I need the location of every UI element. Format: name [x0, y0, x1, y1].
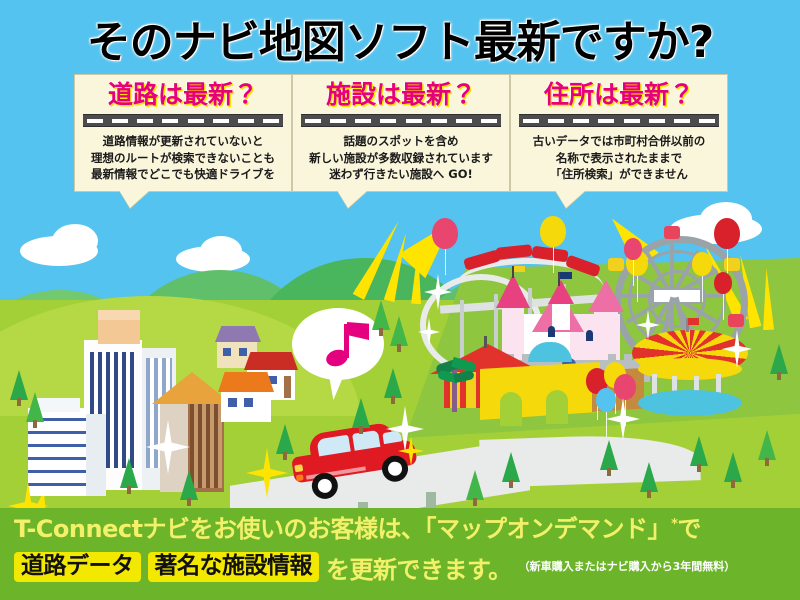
bottom-banner: T-Connectナビをお使いのお客様は、「マップオンデマンド」*で 道路データ… — [0, 508, 800, 600]
callout-title: 道路は最新？ — [81, 81, 285, 109]
callout-title: 住所は最新？ — [517, 81, 721, 109]
park-yellow-arch — [500, 392, 522, 426]
callout-body-line: 話題のスポットを含め — [299, 133, 503, 150]
balloon-icon — [692, 252, 712, 276]
banner-line-1-tail: で — [677, 515, 701, 543]
callout-title: 施設は最新？ — [299, 81, 503, 109]
callout-body-line: 迷わず行きたい施設へ GO! — [299, 166, 503, 183]
callout-tail — [555, 190, 586, 208]
banner-line-1-text: T-Connectナビをお使いのお客様は、「マップオンデマンド」 — [14, 515, 671, 543]
callout-body-line: 名称で表示されたままで — [517, 150, 721, 167]
banner-footnote: （新車購入またはナビ購入から3年間無料） — [519, 558, 736, 577]
callout-body-line: 古いデータでは市町村合併以前の — [517, 133, 721, 150]
banner-line-2-tail: を更新できます。 — [326, 550, 512, 585]
chip-road-data: 道路データ — [14, 552, 141, 582]
balloon-icon — [624, 238, 642, 260]
promo-banner-stage: そのナビ地図ソフト最新ですか? 道路は最新？ 道路情報が更新されていないと 理想… — [0, 0, 800, 600]
road-dashes-icon — [83, 114, 283, 127]
callout-body-line: 理想のルートが検索できないことも — [81, 150, 285, 167]
carousel-icon — [632, 330, 748, 416]
callout-body-line: 最新情報でどこでも快適ドライブを — [81, 166, 285, 183]
callout-tail — [119, 190, 150, 208]
callout-card-roads[interactable]: 道路は最新？ 道路情報が更新されていないと 理想のルートが検索できないことも 最… — [74, 74, 292, 192]
banner-line-2: 道路データ 著名な施設情報 を更新できます。 （新車購入またはナビ購入から3年間… — [14, 550, 786, 585]
park-yellow-building — [480, 362, 600, 420]
chip-facility-info: 著名な施設情報 — [148, 552, 320, 582]
cloud-icon — [52, 224, 98, 258]
banner-line-1: T-Connectナビをお使いのお客様は、「マップオンデマンド」*で — [14, 516, 786, 544]
callout-body-line: 新しい施設が多数収録されています — [299, 150, 503, 167]
cloud-icon — [200, 236, 242, 266]
balloon-icon — [614, 374, 636, 400]
road-dashes-icon — [519, 114, 719, 127]
callout-tail — [337, 190, 368, 208]
callout-card-facilities[interactable]: 施設は最新？ 話題のスポットを含め 新しい施設が多数収録されています 迷わず行き… — [292, 74, 510, 192]
balloon-icon — [596, 388, 616, 412]
house-icon — [218, 372, 274, 424]
callout-group: 道路は最新？ 道路情報が更新されていないと 理想のルートが検索できないことも 最… — [0, 74, 800, 224]
balloon-icon — [714, 272, 732, 294]
road-dashes-icon — [301, 114, 501, 127]
page-title: そのナビ地図ソフト最新ですか? — [0, 6, 800, 70]
park-yellow-arch — [546, 390, 568, 424]
callout-body-line: 道路情報が更新されていないと — [81, 133, 285, 150]
palm-tree-icon — [436, 358, 476, 414]
callout-body-line: 「住所検索」ができません — [517, 166, 721, 183]
callout-card-address[interactable]: 住所は最新？ 古いデータでは市町村合併以前の 名称で表示されたままで 「住所検索… — [510, 74, 728, 192]
